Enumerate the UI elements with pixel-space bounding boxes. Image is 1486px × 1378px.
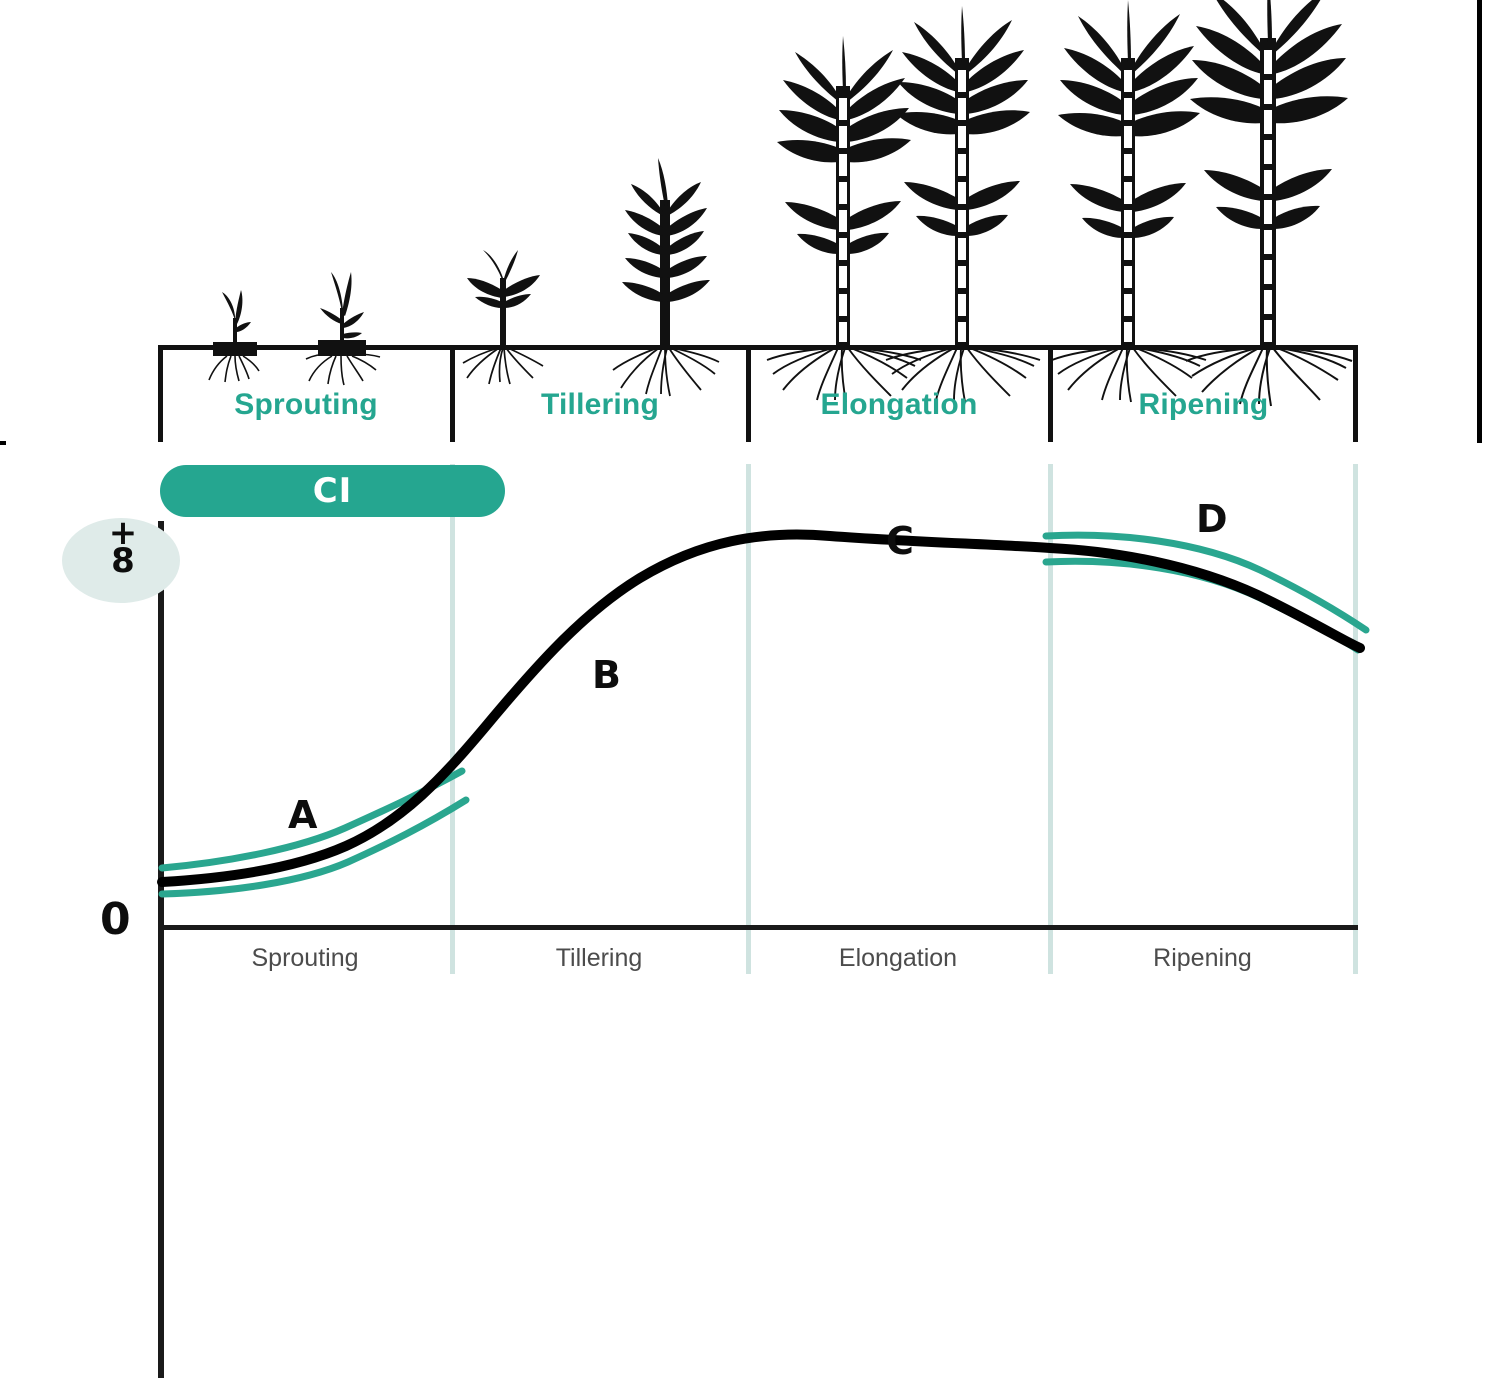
x-tick-label-sprouting: Sprouting xyxy=(160,944,450,973)
curve-segment-label-b: B xyxy=(592,653,621,697)
plant-elongation-cane-2 xyxy=(886,6,1040,402)
ci-curve-plot xyxy=(0,444,1486,994)
ci-curve-chart: CI + 8 0 A B C D Sprouting Tillering Elo… xyxy=(0,444,1486,994)
curve-segment-label-a: A xyxy=(288,793,317,837)
plant-ripening-cane-1 xyxy=(1052,0,1206,402)
plant-sprout-small xyxy=(209,290,259,382)
x-tick-label-ripening: Ripening xyxy=(1050,944,1355,973)
soil-surface-line xyxy=(158,345,1358,350)
stage-label-sprouting: Sprouting xyxy=(156,388,456,422)
y-axis-origin-label: 0 xyxy=(100,894,131,945)
ci-series-badge: CI xyxy=(160,465,505,517)
figure-root: Sprouting Tillering Elongation Ripening xyxy=(0,0,1486,994)
plant-sprout-medium xyxy=(306,272,380,385)
curve-segment-label-c: C xyxy=(886,519,914,563)
curve-segment-label-d: D xyxy=(1196,497,1228,541)
plant-tillering-small xyxy=(463,250,543,384)
stage-label-tillering: Tillering xyxy=(452,388,748,422)
growth-stage-panel: Sprouting Tillering Elongation Ripening xyxy=(0,0,1486,444)
y-axis-max-label: + 8 xyxy=(96,520,150,576)
x-tick-label-tillering: Tillering xyxy=(452,944,746,973)
stage-label-ripening: Ripening xyxy=(1050,388,1357,422)
x-tick-label-elongation: Elongation xyxy=(748,944,1048,973)
sugarcane-silhouettes xyxy=(0,0,1486,444)
plant-tillering-large xyxy=(613,158,719,396)
stage-label-elongation: Elongation xyxy=(748,388,1050,422)
